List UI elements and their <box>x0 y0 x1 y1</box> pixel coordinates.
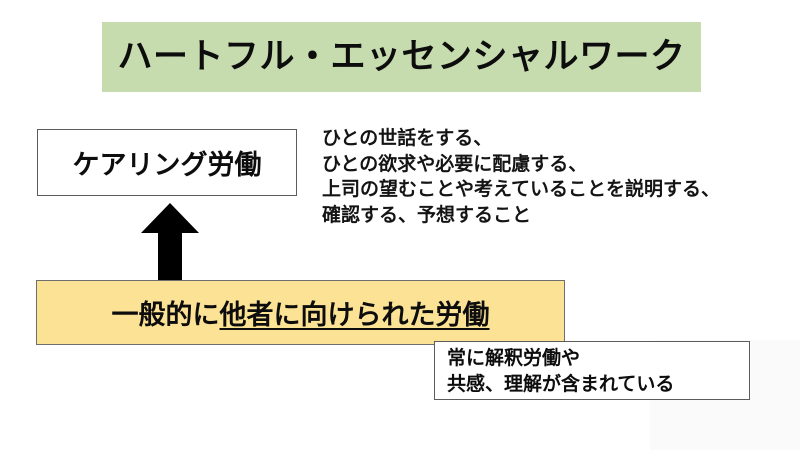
description-line: 上司の望むことや考えていることを説明する、 <box>322 177 792 203</box>
description-line: ひとの欲求や必要に配慮する、 <box>322 152 792 178</box>
general-labor-label: 一般的に他者に向けられた労働 <box>112 293 490 332</box>
description-line: 確認する、予想すること <box>322 203 792 229</box>
general-labor-box: 一般的に他者に向けられた労働 <box>36 280 565 345</box>
note-box: 常に解釈労働や 共感、理解が含まれている <box>434 341 750 400</box>
caring-labor-label: ケアリング労働 <box>73 143 262 182</box>
slide-title: ハートフル・エッセンシャルワーク <box>117 40 685 75</box>
note-line: 常に解釈労働や <box>447 345 749 371</box>
description-text-block: ひとの世話をする、 ひとの欲求や必要に配慮する、 上司の望むことや考えていること… <box>322 126 792 228</box>
general-labor-label-underlined: 他者に向けられた労働 <box>220 300 490 331</box>
up-arrow-icon <box>141 203 199 280</box>
note-line: 共感、理解が含まれている <box>447 371 749 397</box>
presentation-slide: ハートフル・エッセンシャルワーク ケアリング労働 ひとの世話をする、 ひとの欲求… <box>0 0 800 450</box>
description-line: ひとの世話をする、 <box>322 126 792 152</box>
caring-labor-box: ケアリング労働 <box>37 129 297 196</box>
slide-title-band: ハートフル・エッセンシャルワーク <box>102 22 701 92</box>
general-labor-label-plain: 一般的に <box>112 300 220 331</box>
